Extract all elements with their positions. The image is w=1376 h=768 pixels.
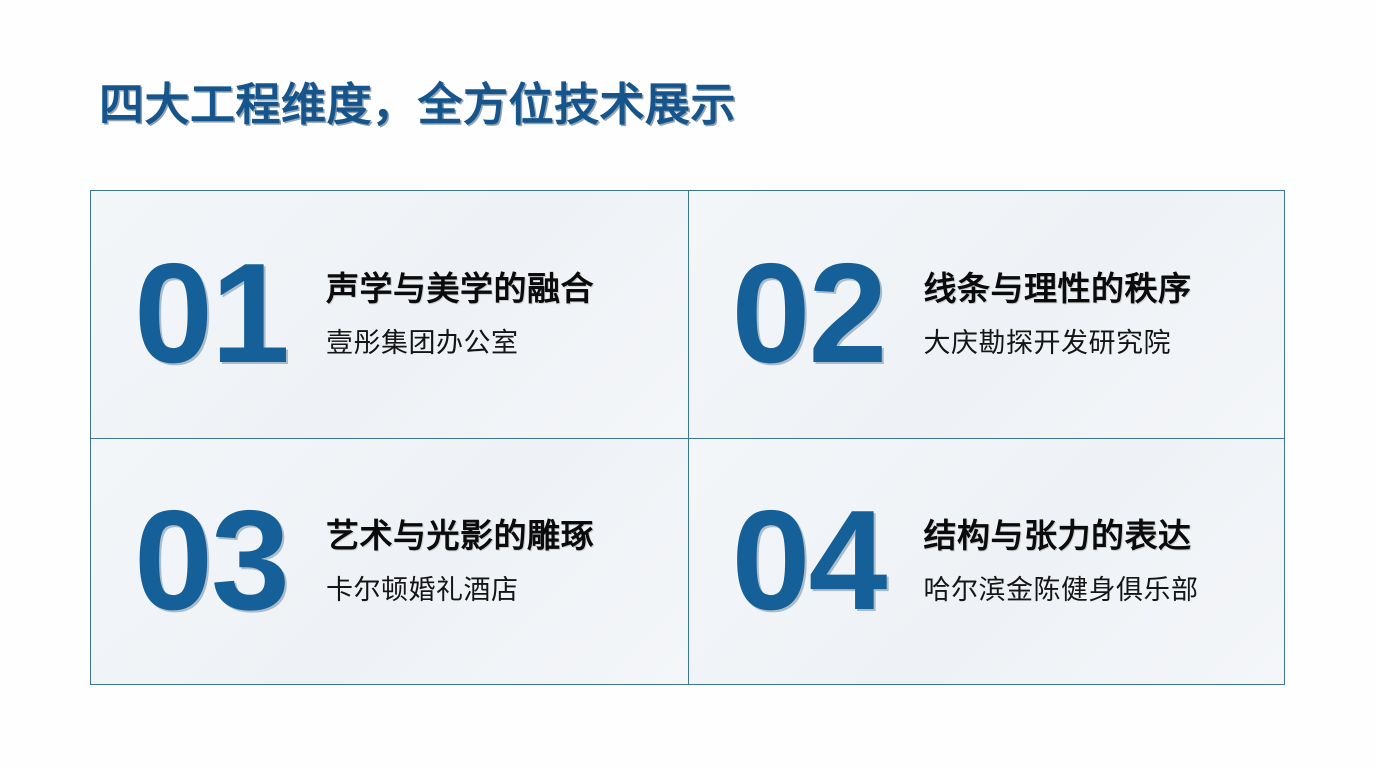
card-heading: 线条与理性的秩序 bbox=[923, 269, 1191, 309]
card-number: 01 bbox=[134, 252, 288, 377]
card-subtitle: 卡尔顿婚礼酒店 bbox=[326, 574, 594, 606]
card-number: 04 bbox=[732, 499, 886, 624]
dimension-card-01[interactable]: 01 声学与美学的融合 壹彤集团办公室 bbox=[91, 191, 688, 438]
dimension-card-04[interactable]: 04 结构与张力的表达 哈尔滨金陈健身俱乐部 bbox=[688, 438, 1285, 685]
card-text-block: 艺术与光影的雕琢 卡尔顿婚礼酒店 bbox=[326, 516, 594, 606]
card-text-block: 声学与美学的融合 壹彤集团办公室 bbox=[326, 269, 594, 359]
card-subtitle: 哈尔滨金陈健身俱乐部 bbox=[923, 574, 1198, 606]
card-heading: 声学与美学的融合 bbox=[326, 269, 594, 309]
page-title: 四大工程维度，全方位技术展示 bbox=[99, 79, 736, 131]
card-heading: 结构与张力的表达 bbox=[923, 516, 1198, 556]
card-subtitle: 大庆勘探开发研究院 bbox=[923, 327, 1191, 359]
card-subtitle: 壹彤集团办公室 bbox=[326, 327, 594, 359]
dimension-card-02[interactable]: 02 线条与理性的秩序 大庆勘探开发研究院 bbox=[688, 191, 1285, 438]
card-text-block: 结构与张力的表达 哈尔滨金陈健身俱乐部 bbox=[923, 516, 1198, 606]
dimension-card-03[interactable]: 03 艺术与光影的雕琢 卡尔顿婚礼酒店 bbox=[91, 438, 688, 685]
card-heading: 艺术与光影的雕琢 bbox=[326, 516, 594, 556]
card-number: 02 bbox=[732, 252, 886, 377]
card-number: 03 bbox=[134, 499, 288, 624]
card-text-block: 线条与理性的秩序 大庆勘探开发研究院 bbox=[923, 269, 1191, 359]
dimension-grid: 01 声学与美学的融合 壹彤集团办公室 02 线条与理性的秩序 大庆勘探开发研究… bbox=[90, 190, 1285, 685]
